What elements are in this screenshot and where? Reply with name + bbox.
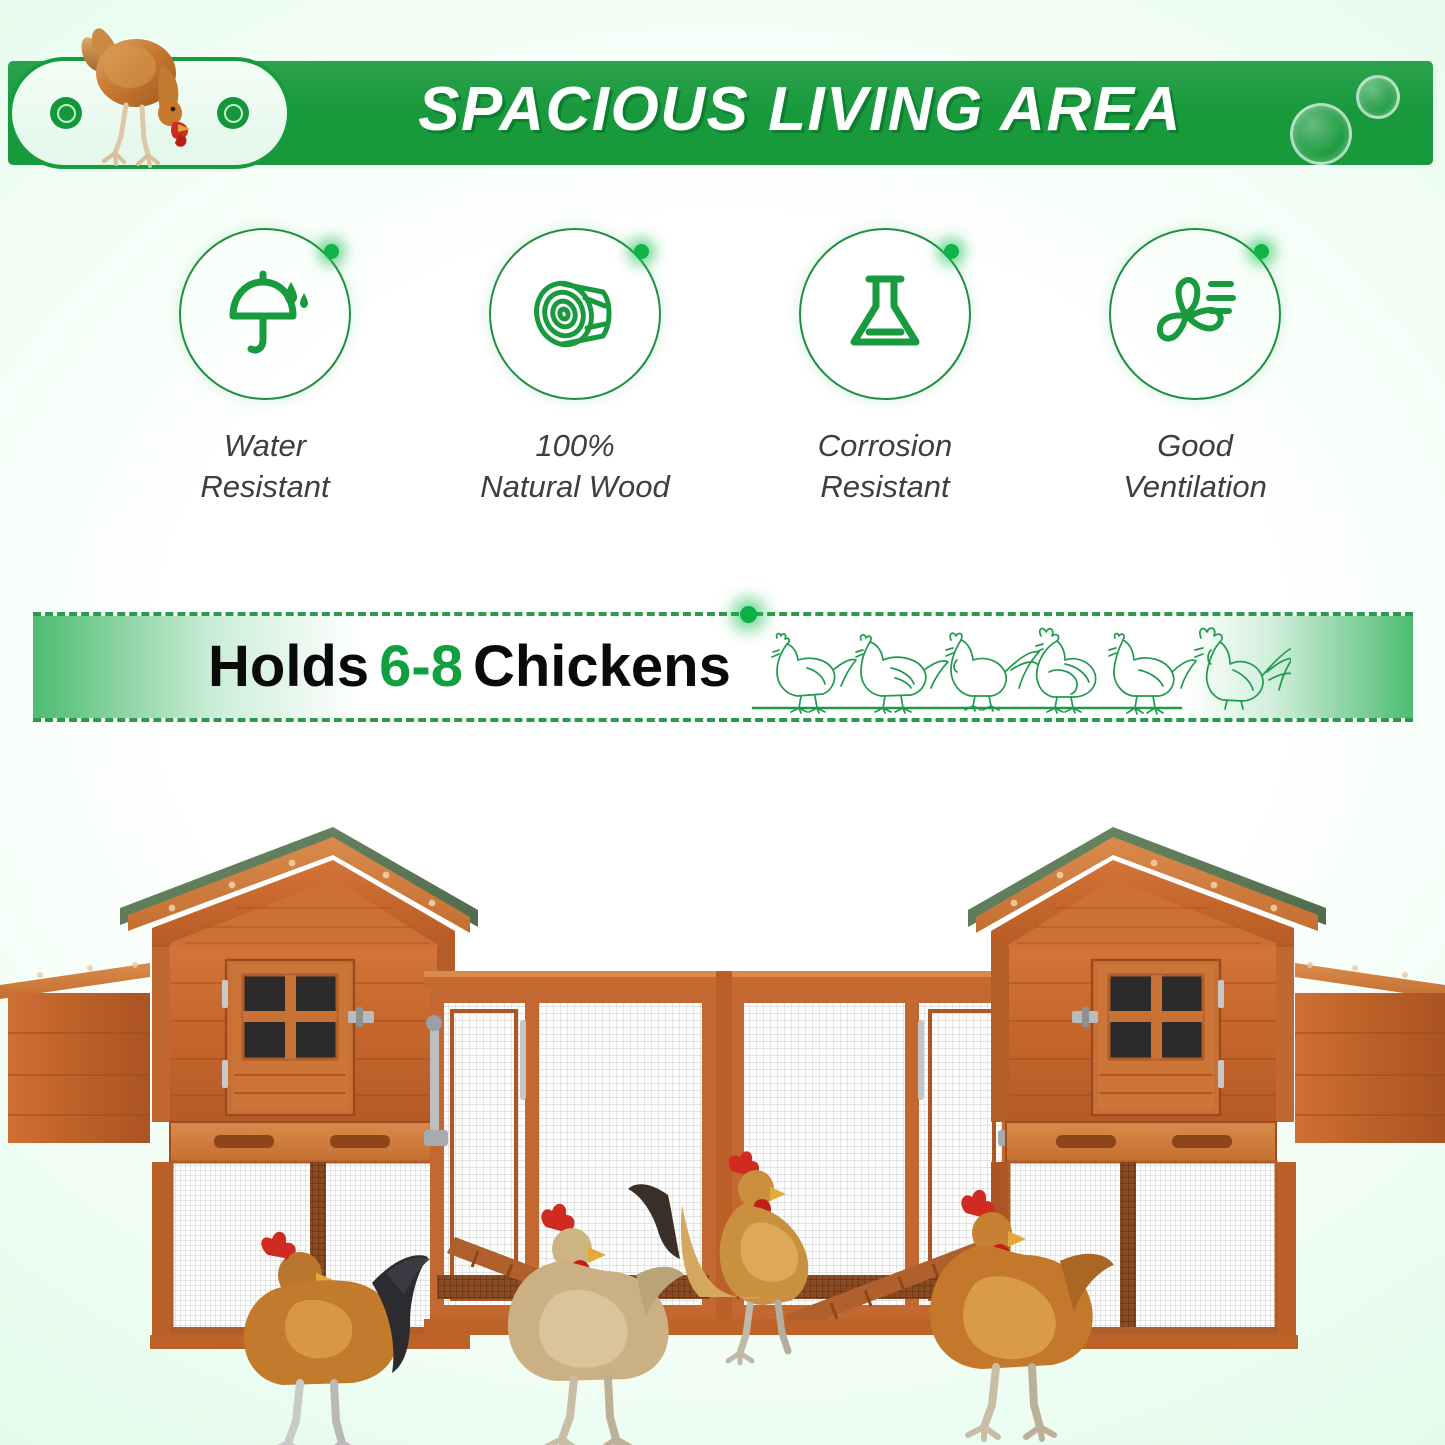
- wood-log-icon: [519, 258, 631, 370]
- feature-label-line1: Corrosion: [818, 426, 952, 467]
- infographic-page: SPACIOUS LIVING AREA: [0, 0, 1445, 1445]
- accent-dot-icon: [944, 244, 959, 259]
- grommet-right-icon: [217, 97, 249, 129]
- features-row: Water Resistant: [120, 228, 1340, 528]
- feature-label-line1: Good: [1123, 426, 1267, 467]
- capacity-dashed-bottom: [33, 718, 1413, 722]
- feature-label: Corrosion Resistant: [818, 426, 952, 508]
- hen-photo-icon: [74, 21, 216, 171]
- nest-box-left: [0, 962, 150, 1143]
- feature-label-line2: Natural Wood: [480, 467, 670, 508]
- feature-label-line2: Resistant: [200, 467, 329, 508]
- feature-circle: [179, 228, 351, 400]
- feature-natural-wood: 100% Natural Wood: [430, 228, 720, 528]
- feature-label: Good Ventilation: [1123, 426, 1267, 508]
- feature-water-resistant: Water Resistant: [120, 228, 410, 528]
- feature-label: Water Resistant: [200, 426, 329, 508]
- page-title: SPACIOUS LIVING AREA: [300, 57, 1300, 161]
- capacity-banner: Holds 6-8 Chickens: [33, 612, 1413, 722]
- feature-corrosion-resistant: Corrosion Resistant: [740, 228, 1030, 528]
- accent-dot-icon: [634, 244, 649, 259]
- accent-dot-icon: [324, 244, 339, 259]
- chicken-lineart-group-icon: [751, 618, 1291, 718]
- feature-label: 100% Natural Wood: [480, 426, 670, 508]
- nest-box-right: [1295, 962, 1445, 1143]
- feature-label-line1: Water: [200, 426, 329, 467]
- center-run: [424, 971, 1024, 1335]
- capacity-count: 6-8: [379, 633, 463, 700]
- header-banner: SPACIOUS LIVING AREA: [0, 57, 1445, 170]
- capacity-dashed-top: [33, 612, 1413, 616]
- accent-dot-icon: [1254, 244, 1269, 259]
- capacity-text: Holds 6-8 Chickens: [208, 630, 731, 702]
- feature-circle: [489, 228, 661, 400]
- feature-good-ventilation: Good Ventilation: [1050, 228, 1340, 528]
- feature-label-line2: Ventilation: [1123, 467, 1267, 508]
- feature-label-line2: Resistant: [818, 467, 952, 508]
- capacity-prefix: Holds: [208, 633, 369, 700]
- umbrella-rain-icon: [211, 260, 319, 368]
- product-image-chicken-coop: [0, 775, 1445, 1445]
- feature-label-line1: 100%: [480, 426, 670, 467]
- feature-circle: [799, 228, 971, 400]
- capacity-suffix: Chickens: [473, 633, 731, 700]
- bubble-small-icon: [1356, 75, 1400, 119]
- flask-icon: [833, 262, 937, 366]
- fan-ventilation-icon: [1139, 260, 1251, 368]
- feature-circle: [1109, 228, 1281, 400]
